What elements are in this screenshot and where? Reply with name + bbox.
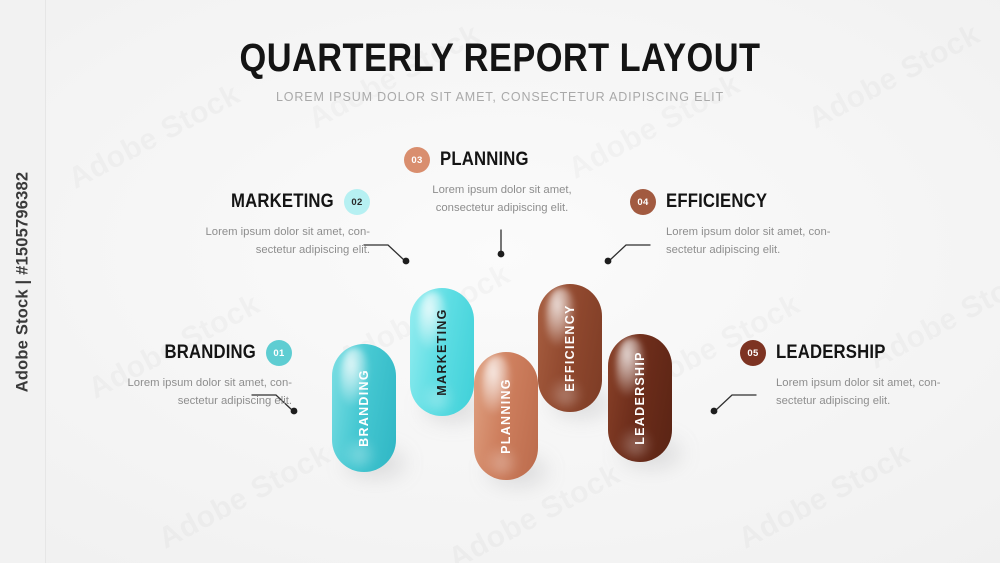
callout-header-planning: 03 PLANNING <box>404 147 600 173</box>
stock-credit-strip: Adobe Stock | #1505796382 <box>0 0 46 563</box>
step-badge-04: 04 <box>630 189 656 215</box>
callout-title: EFFICIENCY <box>666 191 767 213</box>
capsule-label: BRANDING <box>357 369 371 447</box>
page-subtitle: LOREM IPSUM DOLOR SIT AMET, CONSECTETUR … <box>0 90 1000 104</box>
step-badge-01: 01 <box>266 340 292 366</box>
callout-marketing: MARKETING 02 Lorem ipsum dolor sit amet,… <box>160 189 370 259</box>
callout-description: Lorem ipsum dolor sit amet, con-sectetur… <box>666 224 851 259</box>
callout-header-branding: BRANDING 01 <box>52 340 292 366</box>
page-title: QUARTERLY REPORT LAYOUT <box>70 38 930 78</box>
step-badge-02: 02 <box>344 189 370 215</box>
capsule-leadership[interactable]: LEADERSHIP <box>608 334 672 462</box>
callout-description: Lorem ipsum dolor sit amet, consectetur … <box>404 182 600 217</box>
capsule-label: LEADERSHIP <box>633 351 647 445</box>
callout-title: PLANNING <box>440 149 529 171</box>
callout-title: BRANDING <box>164 342 256 364</box>
capsule-marketing[interactable]: MARKETING <box>410 288 474 416</box>
capsule-label: PLANNING <box>499 378 513 454</box>
capsule-body: BRANDING <box>332 344 396 472</box>
capsule-efficiency[interactable]: EFFICIENCY <box>538 284 602 412</box>
capsule-branding[interactable]: BRANDING <box>332 344 396 472</box>
callout-description: Lorem ipsum dolor sit amet, con-sectetur… <box>185 224 370 259</box>
step-badge-03: 03 <box>404 147 430 173</box>
capsule-body: EFFICIENCY <box>538 284 602 412</box>
capsule-label: MARKETING <box>435 308 449 395</box>
stock-credit-text: Adobe Stock | #1505796382 <box>13 171 32 392</box>
callout-efficiency: 04 EFFICIENCY Lorem ipsum dolor sit amet… <box>630 189 855 259</box>
capsule-label: EFFICIENCY <box>563 304 577 391</box>
callout-branding: BRANDING 01 Lorem ipsum dolor sit amet, … <box>52 340 292 410</box>
capsule-planning[interactable]: PLANNING <box>474 352 538 480</box>
capsule-body: MARKETING <box>410 288 474 416</box>
callout-title: LEADERSHIP <box>776 342 886 364</box>
callout-description: Lorem ipsum dolor sit amet, con-sectetur… <box>107 375 292 410</box>
step-badge-05: 05 <box>740 340 766 366</box>
capsule-body: LEADERSHIP <box>608 334 672 462</box>
callout-description: Lorem ipsum dolor sit amet, con-sectetur… <box>776 375 961 410</box>
callout-leadership: 05 LEADERSHIP Lorem ipsum dolor sit amet… <box>740 340 970 410</box>
callout-title: MARKETING <box>231 191 334 213</box>
callout-header-marketing: MARKETING 02 <box>160 189 370 215</box>
callout-header-efficiency: 04 EFFICIENCY <box>630 189 855 215</box>
callout-planning: 03 PLANNING Lorem ipsum dolor sit amet, … <box>404 147 600 217</box>
capsule-body: PLANNING <box>474 352 538 480</box>
callout-header-leadership: 05 LEADERSHIP <box>740 340 970 366</box>
header: QUARTERLY REPORT LAYOUT LOREM IPSUM DOLO… <box>0 38 1000 104</box>
infographic-canvas: Adobe Stock Adobe Stock Adobe Stock Adob… <box>0 0 1000 563</box>
